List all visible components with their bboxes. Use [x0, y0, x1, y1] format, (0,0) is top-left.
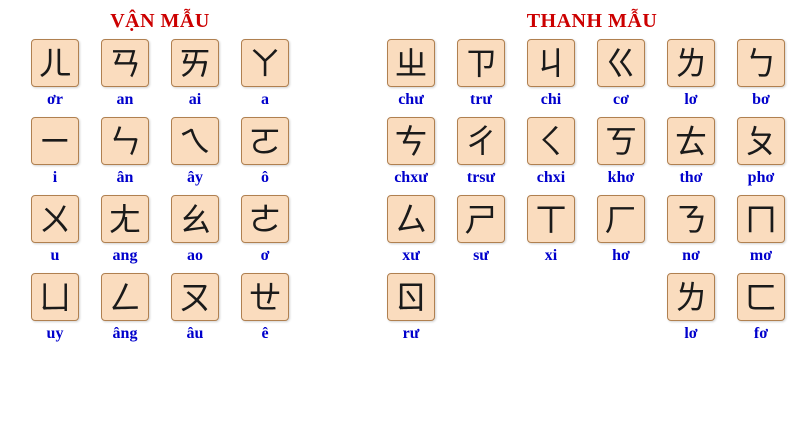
glyph-cell[interactable]: ㄣ ân: [90, 117, 160, 195]
glyph-cell[interactable]: ㄥ âng: [90, 273, 160, 351]
glyph-cell[interactable]: ㄝ ê: [230, 273, 300, 351]
bopomofo-glyph: ㄎ: [605, 125, 638, 158]
romanization-label: u: [51, 247, 60, 265]
glyph-row: ㄖ rư ㄌ lơ: [370, 273, 804, 351]
bopomofo-glyph: ㄢ: [109, 47, 142, 80]
glyph-cell[interactable]: ㄊ thơ: [656, 117, 726, 195]
glyph-cell[interactable]: ㄓ chư: [376, 39, 446, 117]
glyph-cell[interactable]: ㄕ sư: [446, 195, 516, 273]
glyph-tile[interactable]: ㄑ: [527, 117, 575, 165]
bopomofo-glyph: ㄣ: [109, 125, 142, 158]
romanization-label: ang: [113, 247, 138, 265]
bopomofo-glyph: ㄘ: [395, 125, 428, 158]
glyph-row: ㄘ chxư ㄔ trsư ㄑ chxi ㄎ khơ ㄊ thơ: [370, 117, 804, 195]
glyph-cell[interactable]: ㄒ xi: [516, 195, 586, 273]
glyph-grid-van-mau: ㄦ ơr ㄢ an ㄞ ai ㄚ a ㄧ i: [0, 39, 300, 351]
romanization-label: phơ: [748, 169, 775, 187]
romanization-label: i: [53, 169, 57, 187]
romanization-label: khơ: [608, 169, 635, 187]
bopomofo-glyph: ㄛ: [249, 125, 282, 158]
bopomofo-glyph: ㄆ: [745, 125, 778, 158]
bopomofo-glyph: ㄑ: [535, 125, 568, 158]
glyph-tile[interactable]: ㄟ: [171, 117, 219, 165]
glyph-cell[interactable]: ㄨ u: [20, 195, 90, 273]
glyph-tile[interactable]: ㄜ: [241, 195, 289, 243]
romanization-label: trsư: [467, 169, 495, 187]
glyph-tile[interactable]: ㄒ: [527, 195, 575, 243]
glyph-cell[interactable]: ㄠ ao: [160, 195, 230, 273]
glyph-tile[interactable]: ㄝ: [241, 273, 289, 321]
glyph-tile[interactable]: ㄐ: [527, 39, 575, 87]
column-thanh-mau: THANH MẪU ㄓ chư ㄗ trư ㄐ chi ㄍ cơ: [370, 0, 804, 351]
bopomofo-glyph: ㄕ: [465, 203, 498, 236]
glyph-cell[interactable]: ㄟ ây: [160, 117, 230, 195]
glyph-tile[interactable]: ㄍ: [597, 39, 645, 87]
romanization-label: uy: [47, 325, 64, 343]
romanization-label: cơ: [613, 91, 629, 109]
glyph-cell[interactable]: ㄡ âu: [160, 273, 230, 351]
bopomofo-glyph: ㄓ: [395, 47, 428, 80]
glyph-tile[interactable]: ㄆ: [737, 117, 785, 165]
glyph-tile[interactable]: ㄌ: [667, 273, 715, 321]
glyph-tile[interactable]: ㄙ: [387, 195, 435, 243]
bopomofo-glyph: ㄩ: [39, 281, 72, 314]
glyph-cell[interactable]: ㄌ lơ: [656, 39, 726, 117]
glyph-tile[interactable]: ㄢ: [101, 39, 149, 87]
romanization-label: ê: [261, 325, 268, 343]
romanization-label: ô: [261, 169, 269, 187]
glyph-cell-empty: [446, 273, 516, 351]
bopomofo-glyph: ㄊ: [675, 125, 708, 158]
glyph-cell[interactable]: ㄞ ai: [160, 39, 230, 117]
bopomofo-glyph: ㄐ: [535, 47, 568, 80]
romanization-label: thơ: [679, 169, 702, 187]
bopomofo-glyph: ㄒ: [535, 203, 568, 236]
glyph-cell[interactable]: ㄜ ơ: [230, 195, 300, 273]
glyph-tile[interactable]: ㄗ: [457, 39, 505, 87]
bopomofo-glyph: ㄖ: [395, 281, 428, 314]
glyph-cell[interactable]: ㄎ khơ: [586, 117, 656, 195]
romanization-label: ơr: [47, 91, 63, 109]
bopomofo-glyph: ㄦ: [39, 47, 72, 80]
bopomofo-glyph: ㄡ: [179, 281, 212, 314]
glyph-cell[interactable]: ㄗ trư: [446, 39, 516, 117]
glyph-cell[interactable]: ㄈ fơ: [726, 273, 796, 351]
bopomofo-chart-page: VẬN MẪU ㄦ ơr ㄢ an ㄞ ai ㄚ a: [0, 0, 804, 438]
glyph-tile[interactable]: ㄦ: [31, 39, 79, 87]
glyph-cell[interactable]: ㄌ lơ: [656, 273, 726, 351]
glyph-tile[interactable]: ㄧ: [31, 117, 79, 165]
glyph-tile[interactable]: ㄋ: [667, 195, 715, 243]
bopomofo-glyph: ㄝ: [249, 281, 282, 314]
glyph-tile[interactable]: ㄇ: [737, 195, 785, 243]
column-van-mau: VẬN MẪU ㄦ ơr ㄢ an ㄞ ai ㄚ a: [0, 0, 300, 351]
romanization-label: lơ: [684, 325, 697, 343]
glyph-row: ㄓ chư ㄗ trư ㄐ chi ㄍ cơ ㄌ lơ: [370, 39, 804, 117]
glyph-cell[interactable]: ㄔ trsư: [446, 117, 516, 195]
romanization-label: âng: [113, 325, 138, 343]
glyph-tile[interactable]: ㄏ: [597, 195, 645, 243]
bopomofo-glyph: ㄜ: [249, 203, 282, 236]
glyph-cell[interactable]: ㄘ chxư: [376, 117, 446, 195]
glyph-cell[interactable]: ㄍ cơ: [586, 39, 656, 117]
romanization-label: fơ: [754, 325, 768, 343]
romanization-label: chxi: [537, 169, 565, 187]
romanization-label: xư: [402, 247, 420, 265]
romanization-label: xi: [545, 247, 557, 265]
glyph-cell[interactable]: ㄏ hơ: [586, 195, 656, 273]
column-title-van-mau: VẬN MẪU: [0, 10, 300, 33]
glyph-tile[interactable]: ㄨ: [31, 195, 79, 243]
glyph-row: ㄦ ơr ㄢ an ㄞ ai ㄚ a: [0, 39, 300, 117]
bopomofo-glyph: ㄚ: [249, 47, 282, 80]
glyph-tile[interactable]: ㄩ: [31, 273, 79, 321]
glyph-cell-empty: [516, 273, 586, 351]
bopomofo-glyph: ㄔ: [465, 125, 498, 158]
glyph-cell[interactable]: ㄅ bơ: [726, 39, 796, 117]
romanization-label: nơ: [682, 247, 700, 265]
glyph-tile[interactable]: ㄥ: [101, 273, 149, 321]
glyph-cell[interactable]: ㄩ uy: [20, 273, 90, 351]
bopomofo-glyph: ㄅ: [745, 47, 778, 80]
glyph-grid-thanh-mau: ㄓ chư ㄗ trư ㄐ chi ㄍ cơ ㄌ lơ: [370, 39, 804, 351]
glyph-tile[interactable]: ㄤ: [101, 195, 149, 243]
romanization-label: bơ: [752, 91, 770, 109]
glyph-tile[interactable]: ㄓ: [387, 39, 435, 87]
glyph-cell[interactable]: ㄖ rư: [376, 273, 446, 351]
bopomofo-glyph: ㄌ: [675, 281, 708, 314]
bopomofo-glyph: ㄌ: [675, 47, 708, 80]
glyph-tile[interactable]: ㄛ: [241, 117, 289, 165]
romanization-label: ao: [187, 247, 203, 265]
glyph-tile[interactable]: ㄣ: [101, 117, 149, 165]
glyph-tile[interactable]: ㄎ: [597, 117, 645, 165]
glyph-tile[interactable]: ㄖ: [387, 273, 435, 321]
romanization-label: an: [117, 91, 134, 109]
glyph-row: ㄧ i ㄣ ân ㄟ ây ㄛ ô: [0, 117, 300, 195]
romanization-label: âu: [187, 325, 204, 343]
bopomofo-glyph: ㄞ: [179, 47, 212, 80]
bopomofo-glyph: ㄍ: [605, 47, 638, 80]
bopomofo-glyph: ㄧ: [39, 125, 72, 158]
bopomofo-glyph: ㄇ: [745, 203, 778, 236]
bopomofo-glyph: ㄨ: [39, 203, 72, 236]
romanization-label: chi: [541, 91, 561, 109]
glyph-row: ㄙ xư ㄕ sư ㄒ xi ㄏ hơ ㄋ nơ: [370, 195, 804, 273]
glyph-cell[interactable]: ㄢ an: [90, 39, 160, 117]
romanization-label: rư: [403, 325, 420, 343]
glyph-tile[interactable]: ㄞ: [171, 39, 219, 87]
glyph-tile[interactable]: ㄕ: [457, 195, 505, 243]
bopomofo-glyph: ㄠ: [179, 203, 212, 236]
glyph-tile[interactable]: ㄘ: [387, 117, 435, 165]
glyph-tile[interactable]: ㄠ: [171, 195, 219, 243]
glyph-tile[interactable]: ㄡ: [171, 273, 219, 321]
romanization-label: ai: [189, 91, 201, 109]
column-title-thanh-mau: THANH MẪU: [370, 10, 804, 33]
glyph-tile[interactable]: ㄚ: [241, 39, 289, 87]
bopomofo-glyph: ㄟ: [179, 125, 212, 158]
glyph-cell[interactable]: ㄋ nơ: [656, 195, 726, 273]
glyph-cell[interactable]: ㄤ ang: [90, 195, 160, 273]
glyph-row: ㄨ u ㄤ ang ㄠ ao ㄜ ơ: [0, 195, 300, 273]
bopomofo-glyph: ㄤ: [109, 203, 142, 236]
glyph-cell[interactable]: ㄆ phơ: [726, 117, 796, 195]
romanization-label: hơ: [612, 247, 630, 265]
romanization-label: a: [261, 91, 269, 109]
glyph-cell[interactable]: ㄛ ô: [230, 117, 300, 195]
glyph-cell[interactable]: ㄇ mơ: [726, 195, 796, 273]
glyph-cell[interactable]: ㄚ a: [230, 39, 300, 117]
romanization-label: ân: [117, 169, 134, 187]
romanization-label: lơ: [684, 91, 697, 109]
romanization-label: mơ: [750, 247, 772, 265]
romanization-label: chxư: [394, 169, 428, 187]
romanization-label: ây: [187, 169, 203, 187]
bopomofo-glyph: ㄙ: [395, 203, 428, 236]
romanization-label: sư: [473, 247, 489, 265]
bopomofo-glyph: ㄥ: [109, 281, 142, 314]
bopomofo-glyph: ㄈ: [745, 281, 778, 314]
glyph-tile[interactable]: ㄔ: [457, 117, 505, 165]
glyph-cell[interactable]: ㄐ chi: [516, 39, 586, 117]
glyph-cell[interactable]: ㄧ i: [20, 117, 90, 195]
glyph-cell[interactable]: ㄑ chxi: [516, 117, 586, 195]
romanization-label: chư: [398, 91, 424, 109]
bopomofo-glyph: ㄏ: [605, 203, 638, 236]
romanization-label: ơ: [261, 247, 270, 265]
glyph-tile[interactable]: ㄅ: [737, 39, 785, 87]
bopomofo-glyph: ㄋ: [675, 203, 708, 236]
glyph-tile[interactable]: ㄊ: [667, 117, 715, 165]
glyph-row: ㄩ uy ㄥ âng ㄡ âu ㄝ ê: [0, 273, 300, 351]
glyph-cell[interactable]: ㄦ ơr: [20, 39, 90, 117]
glyph-cell-empty: [586, 273, 656, 351]
glyph-cell[interactable]: ㄙ xư: [376, 195, 446, 273]
romanization-label: trư: [470, 91, 492, 109]
glyph-tile[interactable]: ㄌ: [667, 39, 715, 87]
glyph-tile[interactable]: ㄈ: [737, 273, 785, 321]
bopomofo-glyph: ㄗ: [465, 47, 498, 80]
